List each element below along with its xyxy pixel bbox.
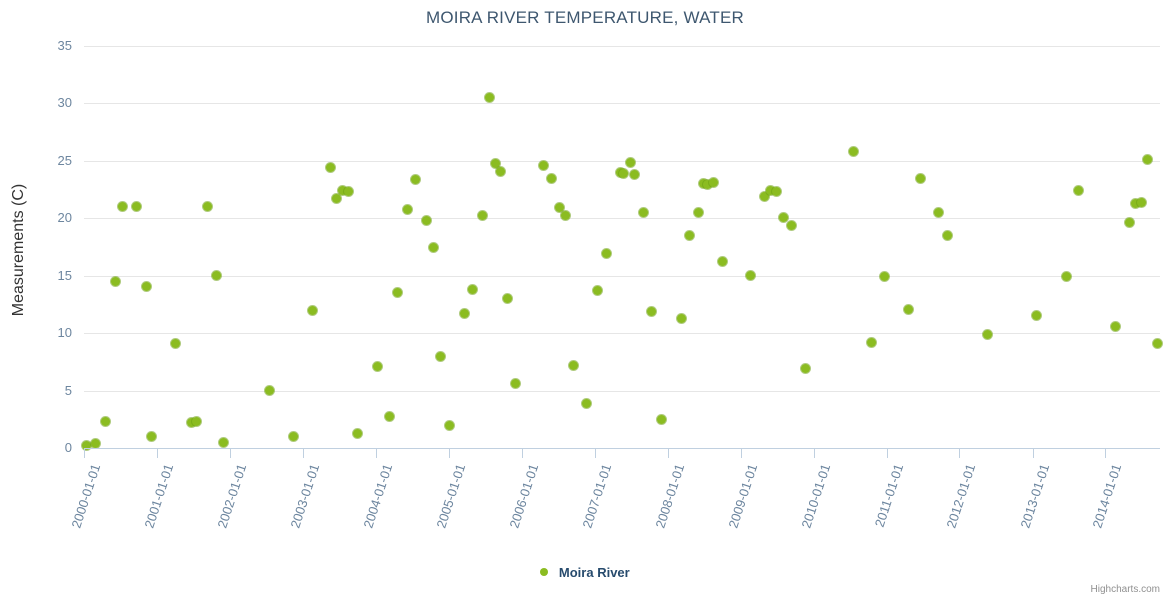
data-point[interactable] (332, 194, 341, 203)
data-point[interactable] (468, 285, 477, 294)
data-point[interactable] (353, 429, 362, 438)
data-point[interactable] (1032, 311, 1041, 320)
y-tick-label-5: 5 (32, 383, 72, 398)
data-point[interactable] (289, 432, 298, 441)
data-point[interactable] (219, 438, 228, 447)
data-point[interactable] (916, 174, 925, 183)
data-point[interactable] (694, 208, 703, 217)
y-tick-label-10: 10 (32, 325, 72, 340)
gridline-y-30 (84, 103, 1160, 104)
data-point[interactable] (147, 432, 156, 441)
data-point[interactable] (496, 167, 505, 176)
y-tick-label-30: 30 (32, 95, 72, 110)
x-tick-mark-2000-01-01 (84, 449, 85, 458)
data-point[interactable] (602, 249, 611, 258)
data-point[interactable] (1143, 155, 1152, 164)
y-axis-tick-labels: 05101520253035 (26, 46, 72, 448)
data-point[interactable] (639, 208, 648, 217)
data-point[interactable] (403, 205, 412, 214)
data-point[interactable] (1153, 339, 1162, 348)
data-point[interactable] (867, 338, 876, 347)
x-tick-mark-2013-01-01 (1033, 449, 1034, 458)
x-tick-mark-2001-01-01 (157, 449, 158, 458)
x-tick-mark-2006-01-01 (522, 449, 523, 458)
data-point[interactable] (630, 170, 639, 179)
x-tick-mark-2012-01-01 (959, 449, 960, 458)
chart-legend: Moira River (0, 564, 1170, 580)
data-point[interactable] (626, 158, 635, 167)
gridline-y-20 (84, 218, 1160, 219)
gridline-y-15 (84, 276, 1160, 277)
y-tick-label-35: 35 (32, 38, 72, 53)
data-point[interactable] (582, 399, 591, 408)
legend-item-moira-river[interactable]: Moira River (540, 564, 629, 580)
x-tick-mark-2011-01-01 (887, 449, 888, 458)
data-point[interactable] (460, 309, 469, 318)
data-point[interactable] (192, 417, 201, 426)
data-point[interactable] (326, 163, 335, 172)
x-tick-mark-2010-01-01 (814, 449, 815, 458)
x-tick-mark-2003-01-01 (303, 449, 304, 458)
y-tick-label-15: 15 (32, 268, 72, 283)
data-point[interactable] (373, 362, 382, 371)
data-point[interactable] (943, 231, 952, 240)
data-point[interactable] (849, 147, 858, 156)
data-point[interactable] (1137, 198, 1146, 207)
data-point[interactable] (539, 161, 548, 170)
data-point[interactable] (503, 294, 512, 303)
data-point[interactable] (569, 361, 578, 370)
data-point[interactable] (1125, 218, 1134, 227)
y-tick-label-25: 25 (32, 153, 72, 168)
data-point[interactable] (511, 379, 520, 388)
data-point[interactable] (709, 178, 718, 187)
gridline-y-25 (84, 161, 1160, 162)
data-point[interactable] (142, 282, 151, 291)
data-point[interactable] (436, 352, 445, 361)
data-point[interactable] (801, 364, 810, 373)
y-tick-label-0: 0 (32, 440, 72, 455)
data-point[interactable] (212, 271, 221, 280)
data-point[interactable] (422, 216, 431, 225)
highcharts-container: MOIRA RIVER TEMPERATURE, WATER Measureme… (0, 0, 1170, 600)
data-point[interactable] (1074, 186, 1083, 195)
credits-label[interactable]: Highcharts.com (1091, 584, 1160, 595)
legend-marker-icon (540, 568, 548, 576)
data-point[interactable] (547, 174, 556, 183)
y-tick-label-20: 20 (32, 210, 72, 225)
data-point[interactable] (203, 202, 212, 211)
data-point[interactable] (344, 187, 353, 196)
data-point[interactable] (657, 415, 666, 424)
data-point[interactable] (445, 421, 454, 430)
data-point[interactable] (385, 412, 394, 421)
gridline-y-5 (84, 391, 1160, 392)
chart-title: MOIRA RIVER TEMPERATURE, WATER (0, 8, 1170, 28)
data-point[interactable] (411, 175, 420, 184)
data-point[interactable] (132, 202, 141, 211)
data-point[interactable] (429, 243, 438, 252)
data-point[interactable] (485, 93, 494, 102)
x-tick-mark-2007-01-01 (595, 449, 596, 458)
data-point[interactable] (880, 272, 889, 281)
plot-area (84, 46, 1160, 448)
data-point[interactable] (1111, 322, 1120, 331)
x-tick-mark-2014-01-01 (1105, 449, 1106, 458)
data-point[interactable] (677, 314, 686, 323)
x-tick-mark-2002-01-01 (230, 449, 231, 458)
gridline-y-35 (84, 46, 1160, 47)
data-point[interactable] (934, 208, 943, 217)
data-point[interactable] (718, 257, 727, 266)
x-tick-mark-2005-01-01 (449, 449, 450, 458)
data-point[interactable] (779, 213, 788, 222)
data-point[interactable] (983, 330, 992, 339)
data-point[interactable] (393, 288, 402, 297)
data-point[interactable] (118, 202, 127, 211)
data-point[interactable] (746, 271, 755, 280)
data-point[interactable] (619, 169, 628, 178)
data-point[interactable] (685, 231, 694, 240)
data-point[interactable] (647, 307, 656, 316)
data-point[interactable] (111, 277, 120, 286)
gridline-y-10 (84, 333, 1160, 334)
data-point[interactable] (265, 386, 274, 395)
data-point[interactable] (1062, 272, 1071, 281)
data-point[interactable] (787, 221, 796, 230)
data-point[interactable] (904, 305, 913, 314)
legend-item-label: Moira River (559, 565, 630, 580)
x-tick-mark-2008-01-01 (668, 449, 669, 458)
data-point[interactable] (308, 306, 317, 315)
data-point[interactable] (772, 187, 781, 196)
x-tick-mark-2009-01-01 (741, 449, 742, 458)
x-tick-mark-2004-01-01 (376, 449, 377, 458)
data-point[interactable] (593, 286, 602, 295)
data-point[interactable] (171, 339, 180, 348)
